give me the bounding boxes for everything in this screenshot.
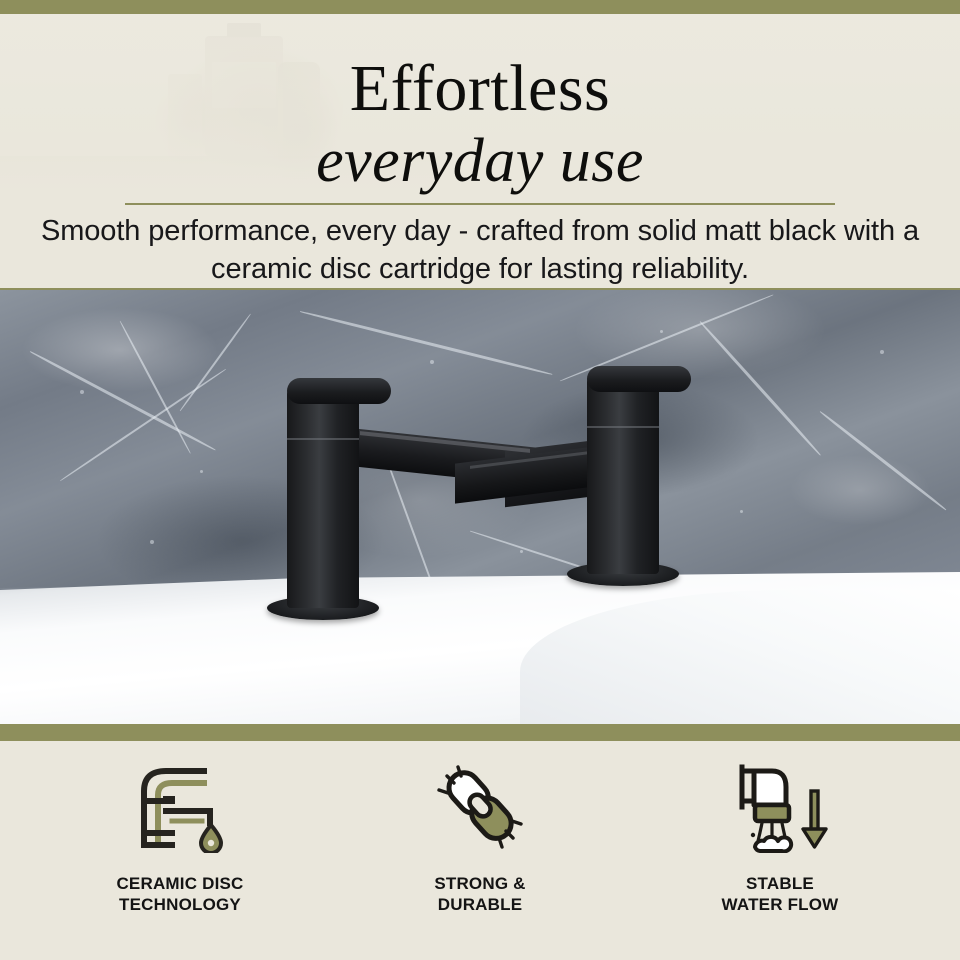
feature-label: STRONG & DURABLE	[434, 873, 525, 915]
headline-primary: Effortless	[0, 56, 960, 122]
features-section: CERAMIC DISC TECHNOLOGY	[0, 741, 960, 960]
title-block: Effortless everyday use	[0, 14, 960, 192]
feature-label: STABLE WATER FLOW	[722, 873, 839, 915]
water-flow-arrow-icon	[728, 759, 832, 855]
feature-label: CERAMIC DISC TECHNOLOGY	[116, 873, 243, 915]
tap-handle-left	[287, 378, 391, 404]
header-subtitle: Smooth performance, every day - crafted …	[22, 212, 938, 288]
feature-item: STRONG & DURABLE	[330, 741, 630, 915]
headline-secondary: everyday use	[0, 130, 960, 192]
hero-product-photo	[0, 288, 960, 726]
tap-seam-right	[587, 426, 659, 428]
header-section: Effortless everyday use Smooth performan…	[0, 14, 960, 288]
infographic-canvas: Effortless everyday use Smooth performan…	[0, 0, 960, 960]
feature-item: STABLE WATER FLOW	[630, 741, 930, 915]
top-accent-bar	[0, 0, 960, 14]
tap-seam-left	[287, 438, 359, 440]
feature-item: CERAMIC DISC TECHNOLOGY	[30, 741, 330, 915]
chain-link-icon	[432, 759, 528, 855]
tap-pillar-right	[587, 378, 659, 574]
bottom-accent-bar	[0, 724, 960, 741]
faucet-drip-icon	[132, 759, 228, 855]
matt-black-tap	[0, 290, 960, 726]
tap-pillar-left	[287, 390, 359, 608]
title-divider-rule	[125, 203, 835, 205]
tap-handle-right	[587, 366, 691, 392]
